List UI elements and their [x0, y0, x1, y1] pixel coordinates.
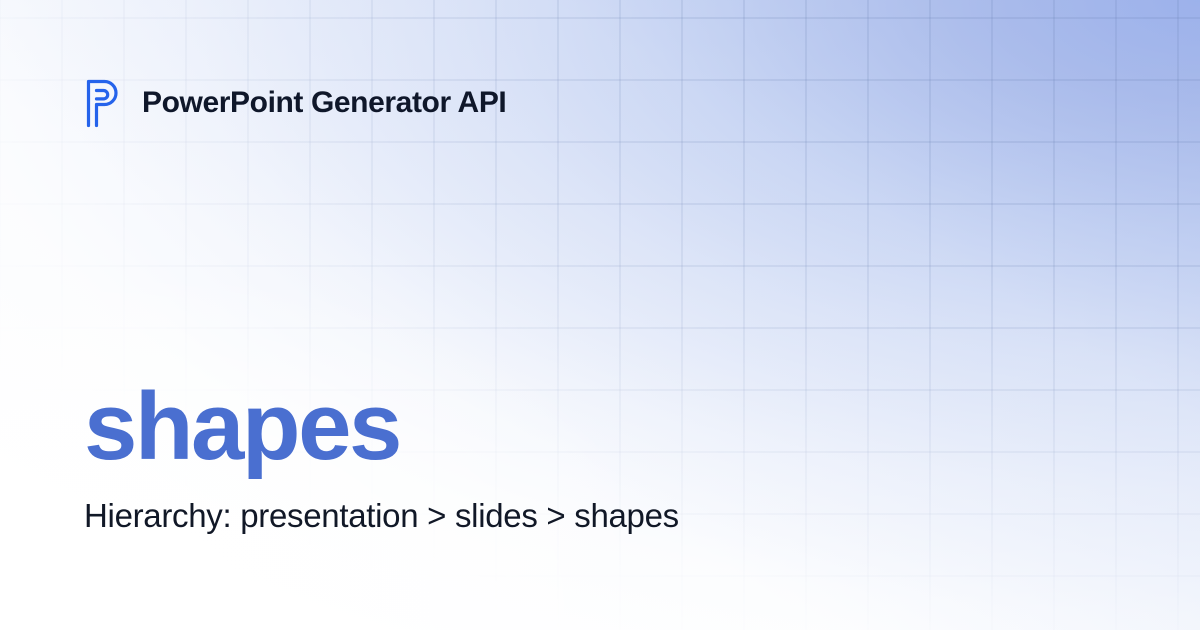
brand-header: PowerPoint Generator API [84, 78, 506, 128]
hero-block: shapes Hierarchy: presentation > slides … [84, 378, 679, 536]
card-content: PowerPoint Generator API shapes Hierarch… [0, 0, 1200, 630]
og-card: PowerPoint Generator API shapes Hierarch… [0, 0, 1200, 630]
powerpoint-p-logo-icon [84, 78, 122, 128]
brand-name: PowerPoint Generator API [142, 88, 506, 118]
hierarchy-breadcrumb: Hierarchy: presentation > slides > shape… [84, 496, 679, 536]
page-title: shapes [84, 378, 679, 476]
